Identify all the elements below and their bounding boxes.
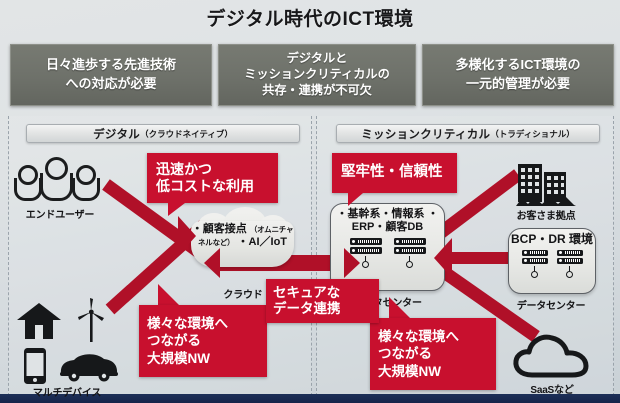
connector-secure-arrow-left	[204, 248, 220, 278]
datacenter-bcp-caption: データセンター	[505, 297, 597, 312]
server-rack-icon	[522, 250, 548, 278]
panel-header-digital-sublabel: （クラウドネイティブ）	[140, 128, 233, 140]
bcp-line-2: 環境	[569, 232, 593, 246]
office-buildings-icon	[516, 162, 576, 206]
panel-header-mc-label: ミッションクリティカル	[361, 126, 490, 142]
smartphone-icon	[24, 348, 46, 384]
callout-secure-data-linkage: セキュアな データ連携	[266, 279, 379, 323]
statement-line: 共存・連携が不可欠	[244, 83, 390, 99]
end-users-icon	[14, 155, 106, 201]
slide-canvas: デジタル時代のICT環境 日々進歩する先進技術 への対応が必要 デジタルと ミッ…	[0, 0, 620, 403]
callout-line: セキュアな	[273, 285, 379, 301]
callout-line: 迅速かつ	[156, 161, 278, 179]
page-title: デジタル時代のICT環境	[0, 4, 620, 31]
multi-device-caption: マルチデバイス	[8, 384, 126, 399]
saas-caption: SaaSなど	[512, 381, 592, 396]
wind-turbine-glyph	[74, 298, 108, 342]
panel-header-digital: デジタル （クラウドネイティブ）	[26, 124, 300, 143]
smartphone-glyph	[24, 348, 46, 384]
bcp-line-1: BCP・DR	[511, 232, 566, 246]
callout-line: 低コストな利用	[156, 178, 278, 196]
callout-line: 堅牢性・信頼性	[341, 164, 457, 181]
panel-header-digital-label: デジタル	[93, 126, 140, 142]
server-racks	[509, 250, 595, 278]
house-glyph	[17, 303, 61, 339]
callout-speed-lowcost: 迅速かつ 低コストな利用	[147, 153, 278, 203]
statement-line: デジタルと	[244, 51, 390, 67]
statement-box-advanced-tech: 日々進歩する先進技術 への対応が必要	[10, 44, 212, 106]
cloud-line-1: ・顧客接点	[192, 223, 247, 235]
callout-line: 大規模NW	[378, 363, 496, 380]
cloud-icon	[512, 330, 592, 378]
datacenter-main-title: ・基幹系・情報系 ・ERP・顧客DB	[331, 204, 444, 234]
end-users-caption: エンドユーザー	[8, 206, 112, 221]
connector-cloud-arrowhead	[178, 216, 196, 256]
datacenter-bcp-title: BCP・DR 環境	[509, 229, 595, 247]
wind-turbine-icon	[74, 298, 108, 342]
callout-line: つながる	[147, 332, 267, 349]
statement-line: 一元的管理が必要	[456, 75, 581, 94]
statement-line: ミッションクリティカルの	[244, 67, 390, 83]
callout-line: 様々な環境へ	[378, 328, 496, 345]
cloud-glyph	[512, 330, 592, 378]
connector-secure-arrow-right	[344, 248, 360, 278]
callout-large-scale-nw-left: 様々な環境へ つながる 大規模NW	[139, 305, 267, 377]
car-icon	[58, 352, 120, 382]
server-rack-icon	[394, 238, 426, 268]
statement-line: への対応が必要	[46, 75, 176, 94]
callout-line: データ連携	[273, 301, 379, 317]
statement-line: 日々進歩する先進技術	[46, 56, 176, 75]
callout-speed-tail	[168, 203, 185, 216]
office-buildings-glyph	[516, 162, 576, 206]
callout-large-scale-nw-right: 様々な環境へ つながる 大規模NW	[370, 318, 496, 390]
callout-line: 大規模NW	[147, 350, 267, 367]
callout-line: 様々な環境へ	[147, 315, 267, 332]
callout-line: つながる	[378, 345, 496, 362]
cloud-line-3: ・AI／IoT	[238, 236, 288, 248]
cloud-digital-text: ・顧客接点 （オムニチャネルなど） ・AI／IoT	[191, 223, 294, 248]
customer-site-caption: お客さま拠点	[500, 207, 592, 222]
connector-bcp-to-dc	[444, 252, 514, 264]
panel-header-mission-critical: ミッションクリティカル （トラディショナル）	[336, 124, 600, 143]
statement-box-coexistence: デジタルと ミッションクリティカルの 共存・連携が不可欠	[218, 44, 416, 106]
callout-nw-right-tail	[389, 297, 411, 319]
callout-robust-tail	[348, 193, 363, 206]
panel-header-mc-sublabel: （トラディショナル）	[490, 128, 574, 140]
statement-line: 多様化するICT環境の	[456, 56, 581, 75]
statement-box-unified-management: 多様化するICT環境の 一元的管理が必要	[422, 44, 614, 106]
connector-dc-arrowhead	[434, 238, 452, 278]
house-icon	[17, 303, 61, 339]
callout-nw-left-tail	[158, 284, 180, 306]
callout-robustness-reliability: 堅牢性・信頼性	[332, 153, 457, 193]
server-rack-icon	[557, 250, 583, 278]
datacenter-bcp-box: BCP・DR 環境	[508, 228, 596, 294]
dc-line-1: ・基幹系・情報系	[336, 208, 424, 220]
car-glyph	[58, 352, 120, 382]
